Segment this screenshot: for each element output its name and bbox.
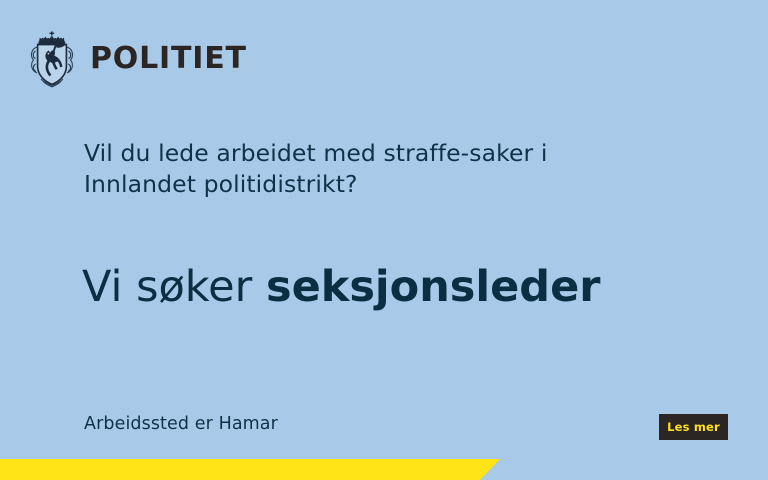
subtitle-question: Vil du lede arbeidet med straffe-saker i… (84, 138, 644, 201)
politiet-wordmark: POLITIET (90, 44, 247, 74)
yellow-accent-stripe (0, 459, 500, 480)
les-mer-button[interactable]: Les mer (659, 414, 728, 440)
headline-emphasis: seksjonsleder (266, 262, 601, 312)
headline-lead: Vi søker (82, 262, 266, 312)
headline: Vi søker seksjonsleder (82, 263, 702, 311)
politiet-logo: POLITIET (26, 30, 247, 88)
norwegian-coat-of-arms-icon (26, 30, 78, 88)
recruitment-banner: POLITIET Vil du lede arbeidet med straff… (0, 0, 768, 480)
work-location: Arbeidssted er Hamar (84, 413, 278, 436)
